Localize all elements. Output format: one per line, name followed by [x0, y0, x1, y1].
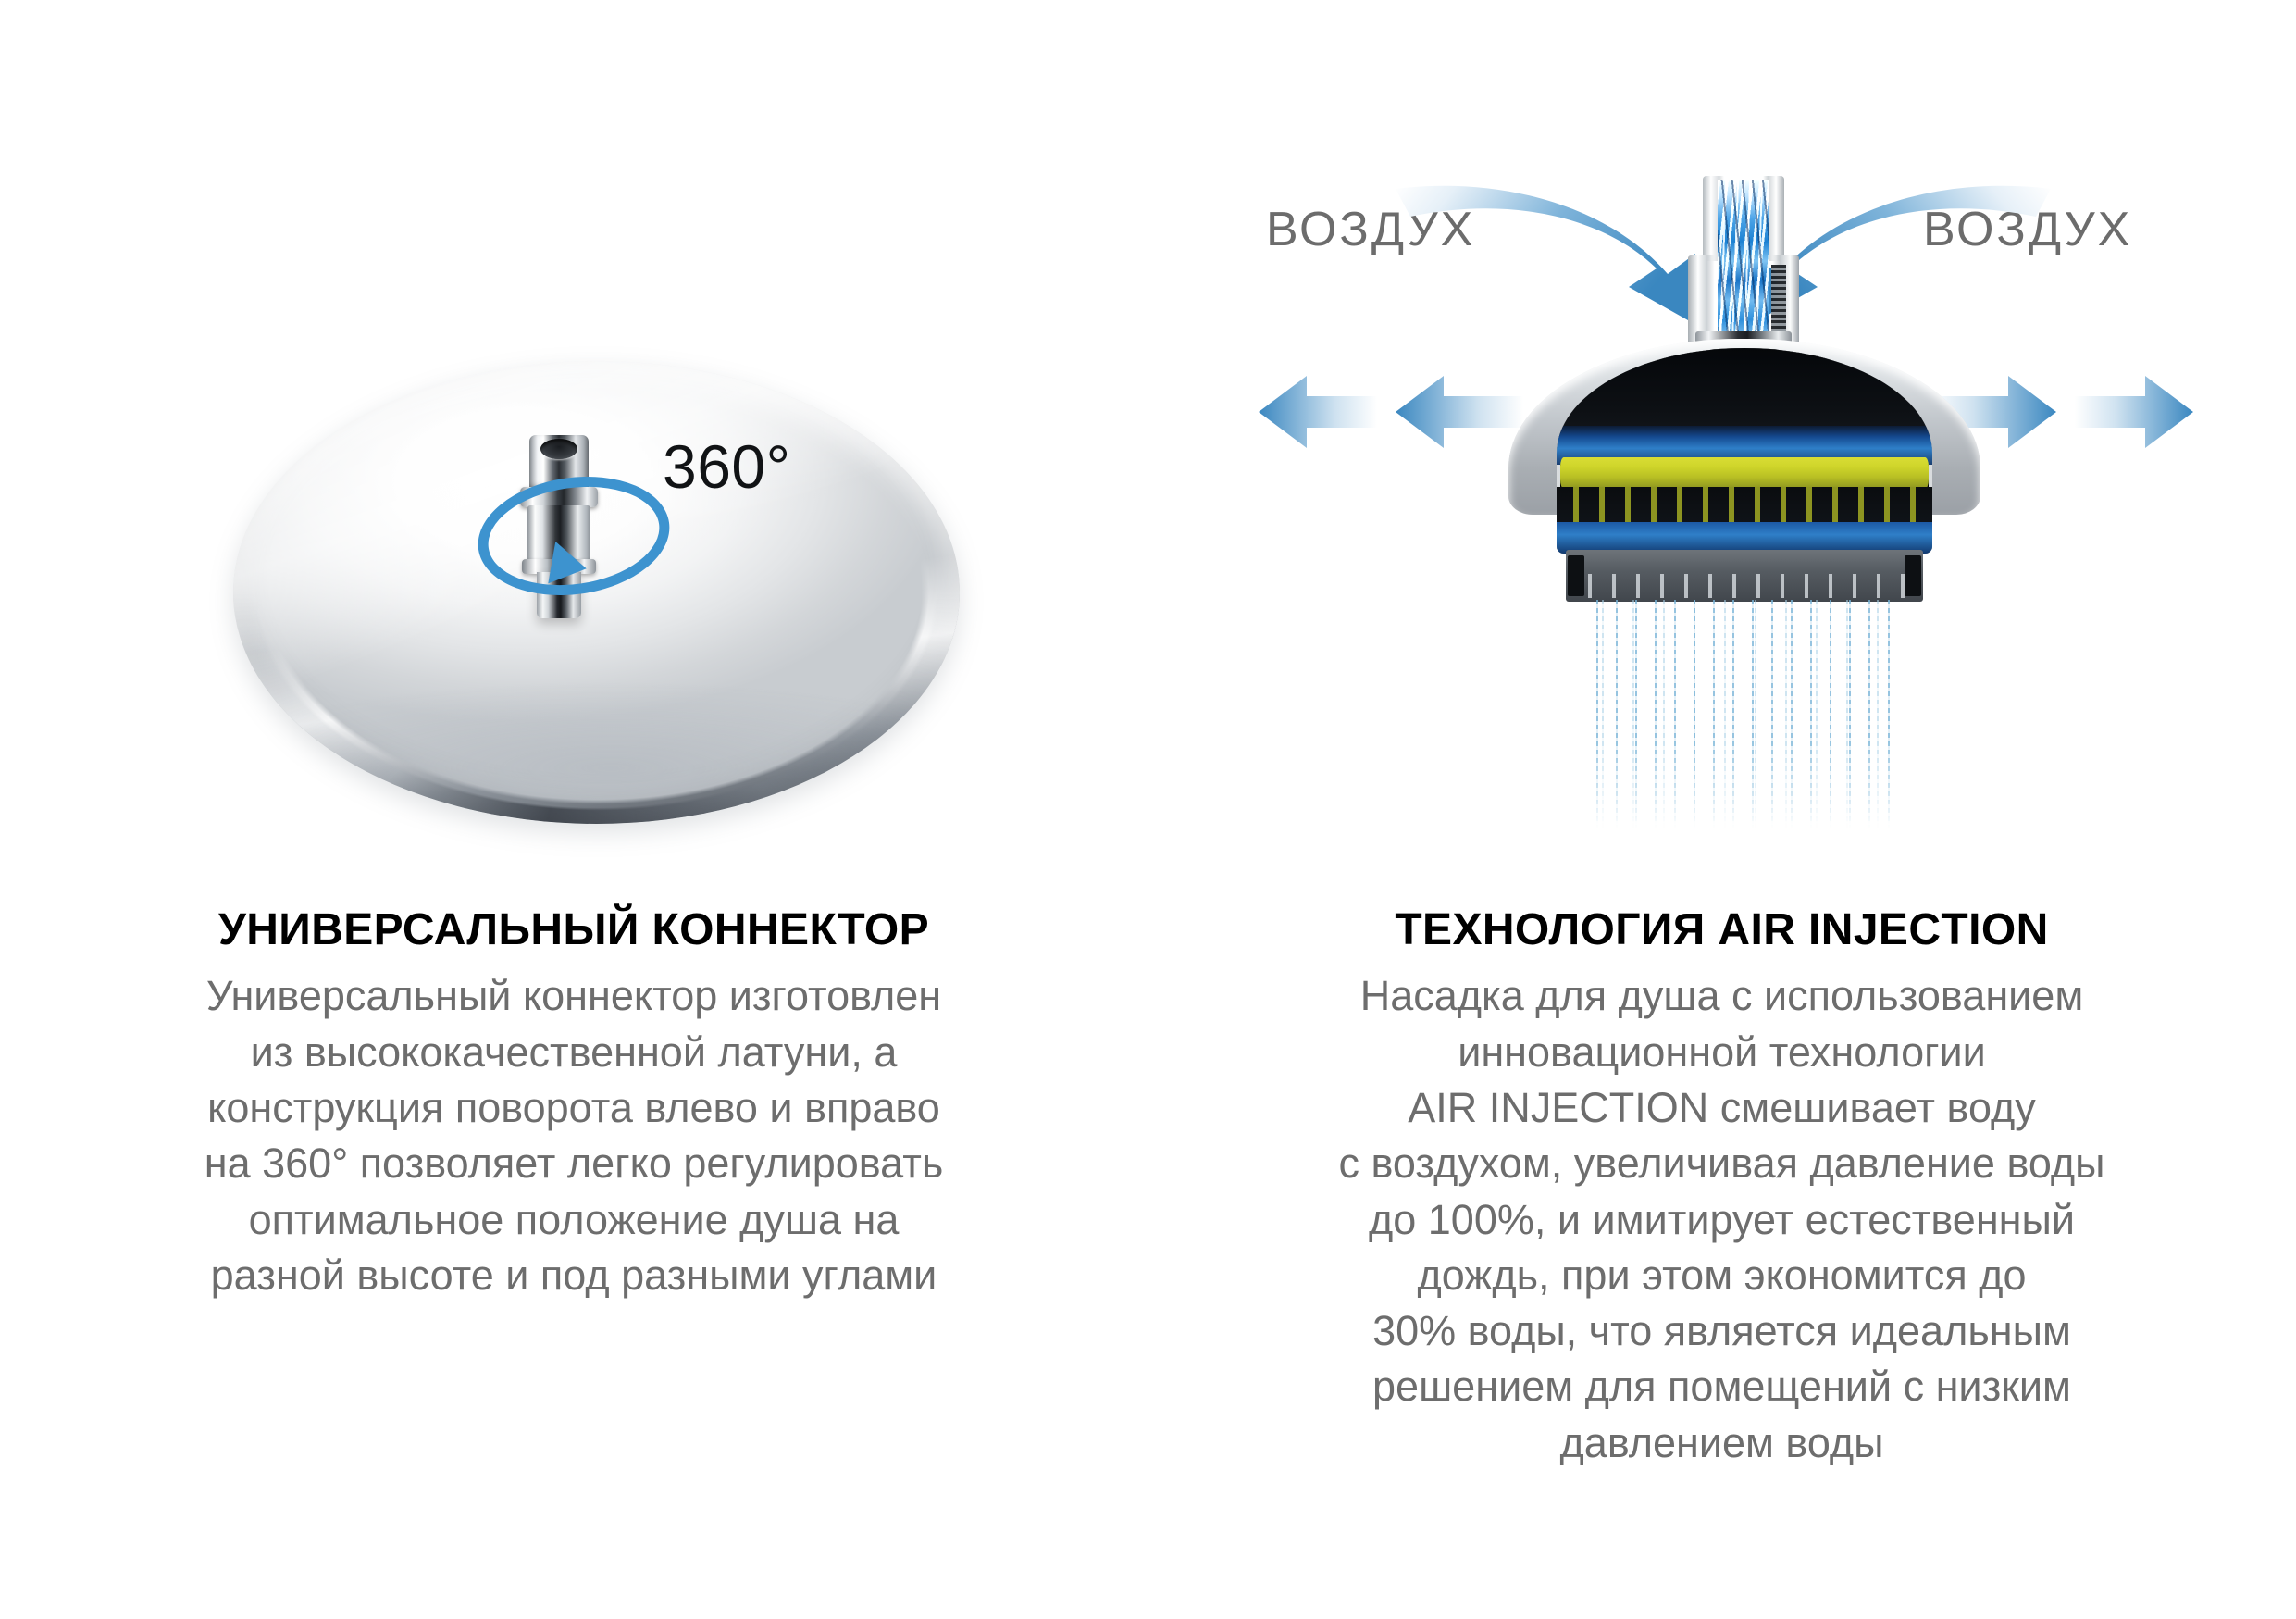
right-body-line: дождь, при этом экономится до	[1297, 1248, 2148, 1303]
right-text-block: ТЕХНОЛОГИЯ AIR INJECTION Насадка для душ…	[1148, 907, 2296, 1471]
right-body-line: с воздухом, увеличивая давление воды	[1297, 1136, 2148, 1191]
right-body-line: 30% воды, что является идеальным	[1297, 1303, 2148, 1359]
left-body-line: из высококачественной латуни, а	[157, 1025, 990, 1080]
diffuser-plate-icon	[1560, 457, 1929, 489]
right-body-line: решением для помещений с низким	[1297, 1359, 2148, 1414]
stem-thread	[1771, 265, 1786, 331]
left-body-line: оптимальное положение душа на	[157, 1192, 990, 1248]
right-body-copy: Насадка для душа с использованием иннова…	[1297, 968, 2148, 1471]
left-arrow-icon-inner	[1396, 376, 1523, 448]
left-arrow-icon-outer	[1259, 376, 1377, 448]
right-body-line: Насадка для душа с использованием	[1297, 968, 2148, 1024]
panel-air-injection: ВОЗДУХ ВОЗДУХ	[1148, 0, 2296, 1619]
rotation-badge-360: 360°	[663, 431, 791, 502]
inlet-stem	[1686, 176, 1801, 344]
infographic-canvas: 360° УНИВЕРСАЛЬНЫЙ КОННЕКТОР Универсальн…	[0, 0, 2296, 1619]
connector-bore	[540, 439, 577, 459]
left-body-line: на 360° позволяет легко регулировать	[157, 1136, 990, 1191]
right-body-line: инновационной технологии	[1297, 1025, 2148, 1080]
head-dome	[1508, 339, 1980, 570]
right-headline: ТЕХНОЛОГИЯ AIR INJECTION	[1148, 907, 2296, 953]
left-body-line: разной высоте и под разными углами	[157, 1248, 990, 1303]
air-injection-figure: ВОЗДУХ ВОЗДУХ	[1148, 0, 2296, 889]
stem-water-flow-icon	[1718, 180, 1769, 342]
water-spray-icon	[1588, 600, 1906, 828]
nozzle-face-plate	[1566, 550, 1923, 602]
plate-endcap-right	[1905, 555, 1921, 596]
plate-endcap-left	[1568, 555, 1584, 596]
rotation-arrowhead-icon	[548, 542, 590, 590]
right-body-line: AIR INJECTION смешивает воду	[1297, 1080, 2148, 1136]
left-body-line: Универсальный коннектор изготовлен	[157, 968, 990, 1024]
left-body-copy: Универсальный коннектор изготовлен из вы…	[157, 968, 990, 1303]
shower-head-cutaway	[1508, 176, 1980, 694]
left-body-line: конструкция поворота влево и вправо	[157, 1080, 990, 1136]
right-arrow-icon-outer	[2075, 376, 2193, 448]
dome-cutaway-chamber	[1557, 348, 1932, 554]
right-body-line: до 100%, и имитирует естественный	[1297, 1192, 2148, 1248]
air-chamber	[1557, 348, 1932, 437]
left-headline: УНИВЕРСАЛЬНЫЙ КОННЕКТОР	[0, 907, 1148, 953]
universal-connector-figure: 360°	[0, 0, 1148, 889]
water-layer-lower	[1557, 522, 1932, 554]
right-body-line: давлением воды	[1297, 1415, 2148, 1471]
panel-universal-connector: 360° УНИВЕРСАЛЬНЫЙ КОННЕКТОР Универсальн…	[0, 0, 1148, 1619]
left-text-block: УНИВЕРСАЛЬНЫЙ КОННЕКТОР Универсальный ко…	[0, 907, 1148, 1303]
